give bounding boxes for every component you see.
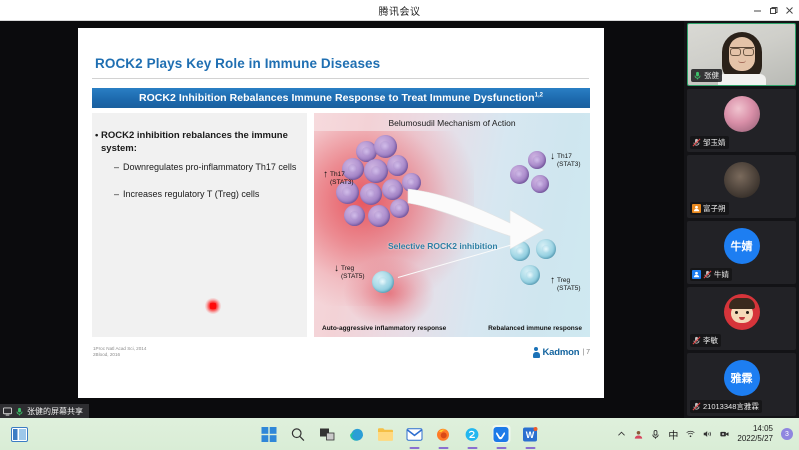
microphone-icon bbox=[693, 71, 702, 80]
participant-name-chip: 张健 bbox=[691, 69, 722, 82]
label-treg-down: ↓ Treg (STAT5) bbox=[341, 265, 365, 280]
label-treg-up: ↑ Treg (STAT5) bbox=[557, 277, 581, 292]
participant-name: 邹玉婧 bbox=[703, 137, 726, 148]
participant-name: 富子朔 bbox=[703, 203, 726, 214]
participant-tile[interactable]: 牛婧 牛婧 bbox=[687, 221, 796, 284]
participant-name-chip: 邹玉婧 bbox=[690, 136, 729, 149]
slide-page-number: | 7 bbox=[582, 349, 590, 356]
sub-bullet-text: Increases regulatory T (Treg) cells bbox=[123, 189, 259, 199]
label-line1: Treg bbox=[557, 277, 581, 285]
user-icon[interactable] bbox=[634, 430, 643, 439]
bullet-main-text: ROCK2 inhibition rebalances the immune s… bbox=[101, 130, 288, 154]
volume-icon[interactable] bbox=[703, 430, 712, 439]
arrow-down-icon: ↓ bbox=[550, 153, 555, 161]
label-line1: Th17 bbox=[557, 153, 581, 161]
participant-name-chip: 富子朔 bbox=[690, 202, 729, 215]
th17-cell bbox=[528, 151, 546, 169]
monitor-icon bbox=[3, 407, 12, 416]
minimize-icon[interactable] bbox=[749, 0, 765, 21]
treg-cell bbox=[520, 265, 540, 285]
file-explorer-icon[interactable] bbox=[376, 425, 394, 443]
close-icon[interactable] bbox=[781, 0, 797, 21]
microphone-muted-icon bbox=[703, 270, 712, 279]
kadmon-logo: Kadmon | 7 bbox=[533, 347, 590, 358]
restore-icon[interactable] bbox=[765, 0, 781, 21]
selective-inhibition-label: Selective ROCK2 inhibition bbox=[388, 241, 498, 251]
clock-time: 14:05 bbox=[737, 424, 773, 434]
participant-tile[interactable]: 张健 bbox=[687, 23, 796, 86]
taskbar-left-group bbox=[10, 425, 28, 443]
diagram-caption-right: Rebalanced immune response bbox=[488, 325, 582, 332]
bullet-main: • ROCK2 inhibition rebalances the immune… bbox=[101, 129, 299, 155]
label-line2: (STAT5) bbox=[341, 273, 365, 281]
participant-name: 张健 bbox=[704, 70, 719, 81]
wifi-icon[interactable] bbox=[686, 430, 695, 439]
bullet-dot-icon: • bbox=[95, 129, 98, 142]
participant-name-chip: 21013348言雅霖 bbox=[690, 400, 762, 413]
meeting-window: ROCK2 Plays Key Role in Immune Diseases … bbox=[0, 21, 799, 418]
panel-toggle-icon[interactable] bbox=[10, 425, 28, 443]
participant-name: 21013348言雅霖 bbox=[703, 401, 759, 412]
chevron-up-icon[interactable] bbox=[617, 430, 626, 439]
slide-banner-text: ROCK2 Inhibition Rebalances Immune Respo… bbox=[139, 92, 543, 104]
dash-icon: – bbox=[114, 161, 119, 174]
presentation-slide: ROCK2 Plays Key Role in Immune Diseases … bbox=[78, 28, 604, 398]
banner-superscript: 1,2 bbox=[535, 93, 544, 99]
window-controls bbox=[749, 0, 797, 21]
label-line2: (STAT5) bbox=[557, 285, 581, 293]
laser-pointer-annotation bbox=[205, 298, 221, 314]
label-line2: (STAT3) bbox=[330, 179, 354, 187]
avatar-initials: 牛婧 bbox=[731, 238, 753, 254]
slide-title: ROCK2 Plays Key Role in Immune Diseases bbox=[95, 56, 380, 71]
avatar: 雅霖 bbox=[724, 360, 760, 396]
microphone-icon[interactable] bbox=[651, 430, 660, 439]
clock-date: 2022/5/27 bbox=[737, 434, 773, 444]
arrow-down-icon: ↓ bbox=[334, 265, 339, 273]
diagram-title: Belumosudil Mechanism of Action bbox=[314, 118, 590, 128]
avatar bbox=[722, 32, 762, 82]
diagram-caption-left: Auto-aggressive inflammatory response bbox=[322, 325, 446, 332]
label-th17-up: ↑ Th17 (STAT3) bbox=[330, 171, 354, 186]
ime-indicator[interactable]: 中 bbox=[668, 427, 678, 442]
microphone-muted-icon bbox=[692, 336, 701, 345]
firefox-icon[interactable] bbox=[434, 425, 452, 443]
slide-banner: ROCK2 Inhibition Rebalances Immune Respo… bbox=[92, 88, 590, 108]
shared-screen-stage[interactable]: ROCK2 Plays Key Role in Immune Diseases … bbox=[0, 21, 684, 418]
share-banner-text: 张健的屏幕共享 bbox=[27, 406, 83, 417]
th17-cell bbox=[382, 179, 403, 200]
participant-tile[interactable]: 邹玉婧 bbox=[687, 89, 796, 152]
arrow-up-icon: ↑ bbox=[550, 277, 555, 285]
avatar: 牛婧 bbox=[724, 228, 760, 264]
th17-cell bbox=[360, 183, 382, 205]
host-badge-icon bbox=[692, 204, 701, 213]
participant-name-chip: 牛婧 bbox=[690, 268, 732, 281]
participant-list[interactable]: 张健 邹玉婧 富子朔 bbox=[684, 21, 799, 418]
participant-tile[interactable]: 富子朔 bbox=[687, 155, 796, 218]
avatar-initials: 雅霖 bbox=[731, 370, 753, 386]
participant-tile[interactable]: 李敏 bbox=[687, 287, 796, 350]
kadmon-wordmark: Kadmon bbox=[543, 347, 580, 358]
taskbar-clock[interactable]: 14:05 2022/5/27 bbox=[737, 424, 773, 444]
tencent-meeting-icon[interactable] bbox=[492, 425, 510, 443]
th17-cell bbox=[344, 205, 365, 226]
treg-cell bbox=[372, 271, 394, 293]
slide-citations: 1Proc Natl Acad Sci, 2014 2Blood, 2016 bbox=[93, 346, 146, 358]
windows-taskbar: W 中 14:05 2022/ bbox=[0, 418, 799, 450]
th17-cell bbox=[368, 205, 390, 227]
participant-name: 牛婧 bbox=[714, 269, 729, 280]
host-badge-icon bbox=[692, 270, 701, 279]
search-icon[interactable] bbox=[289, 425, 307, 443]
notification-badge[interactable]: 3 bbox=[781, 428, 793, 440]
svg-text:W: W bbox=[526, 430, 535, 440]
citation-line: 2Blood, 2016 bbox=[93, 352, 146, 358]
windows-start-icon[interactable] bbox=[260, 425, 278, 443]
th17-cell bbox=[387, 155, 408, 176]
screen-root: 腾讯会议 ROCK2 Plays Key Role in Immune Dise… bbox=[0, 0, 799, 450]
kadmon-mark-icon bbox=[533, 347, 540, 358]
2345-browser-icon[interactable] bbox=[463, 425, 481, 443]
th17-cell bbox=[364, 159, 388, 183]
camera-icon[interactable] bbox=[720, 430, 729, 439]
label-line1: Treg bbox=[341, 265, 365, 273]
task-view-icon[interactable] bbox=[318, 425, 336, 443]
dash-icon: – bbox=[114, 188, 119, 201]
sub-bullet-text: Downregulates pro-inflammatory Th17 cell… bbox=[123, 162, 296, 172]
sub-bullet-item: – Downregulates pro-inflammatory Th17 ce… bbox=[114, 161, 304, 174]
label-line2: (STAT3) bbox=[557, 161, 581, 169]
label-line1: Th17 bbox=[330, 171, 354, 179]
avatar bbox=[724, 96, 760, 132]
label-th17-down: ↓ Th17 (STAT3) bbox=[557, 153, 581, 168]
window-title: 腾讯会议 bbox=[379, 3, 421, 18]
mail-icon[interactable] bbox=[405, 425, 423, 443]
system-tray: 中 14:05 2022/5/27 3 bbox=[617, 424, 793, 444]
sub-bullet-item: – Increases regulatory T (Treg) cells bbox=[114, 188, 304, 201]
avatar bbox=[724, 162, 760, 198]
avatar bbox=[724, 294, 760, 330]
sub-bullet-list: – Downregulates pro-inflammatory Th17 ce… bbox=[114, 161, 304, 214]
arrow-up-icon: ↑ bbox=[323, 171, 328, 179]
edge-browser-icon[interactable] bbox=[347, 425, 365, 443]
screen-share-banner: 张健的屏幕共享 bbox=[0, 404, 89, 418]
slide-bullets-panel: • ROCK2 inhibition rebalances the immune… bbox=[92, 113, 307, 337]
taskbar-app-group: W bbox=[260, 425, 539, 443]
mechanism-diagram: Belumosudil Mechanism of Action bbox=[314, 113, 590, 337]
microphone-icon bbox=[15, 407, 24, 416]
participant-tile[interactable]: 雅霖 21013348言雅霖 bbox=[687, 353, 796, 416]
microphone-muted-icon bbox=[692, 402, 701, 411]
microphone-muted-icon bbox=[692, 138, 701, 147]
title-divider bbox=[92, 78, 589, 79]
participant-name: 李敏 bbox=[703, 335, 718, 346]
window-title-bar: 腾讯会议 bbox=[0, 0, 799, 21]
wps-office-icon[interactable]: W bbox=[521, 425, 539, 443]
th17-cell bbox=[510, 165, 529, 184]
participant-name-chip: 李敏 bbox=[690, 334, 721, 347]
